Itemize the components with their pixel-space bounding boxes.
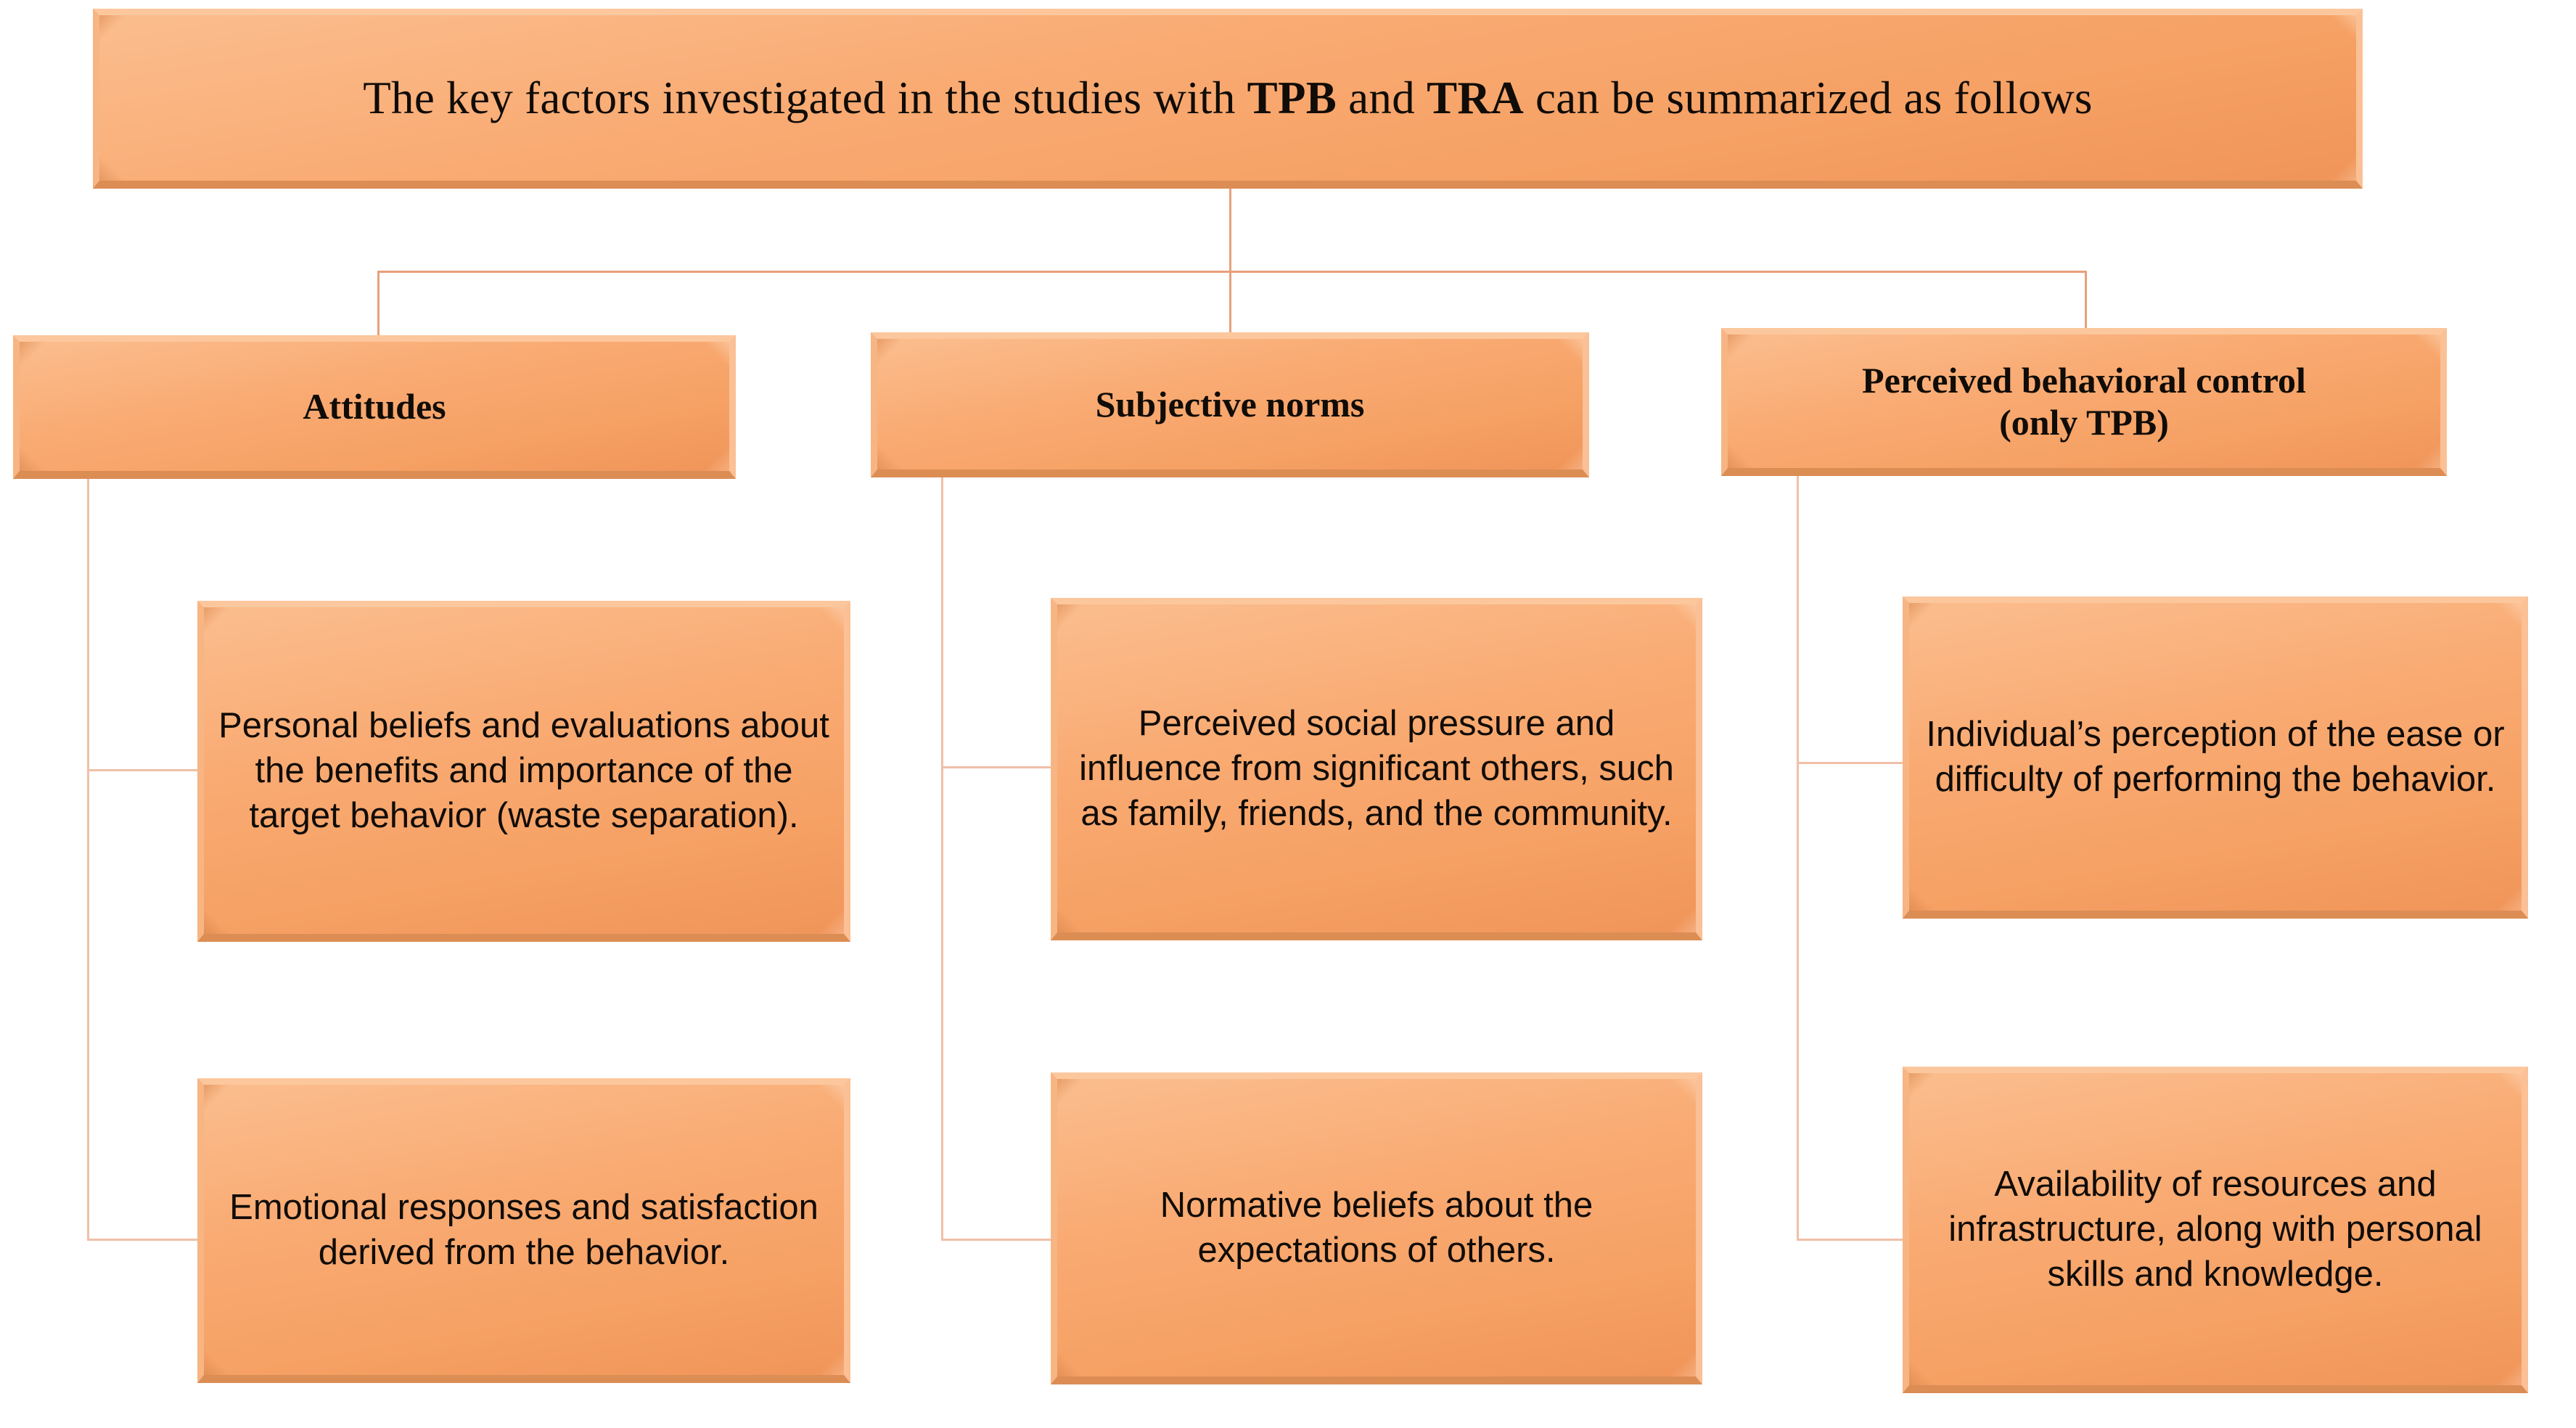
connector-perceived-behavioral-control-to-detail-2 [1797,1239,1904,1241]
header-box: The key factors investigated in the stud… [93,9,2363,189]
category-title-line-2: (only TPB) [1999,402,2169,443]
header-text-before: The key factors investigated in the stud… [363,73,1247,123]
connector-header-bus [377,271,2087,273]
category-box-perceived-behavioral-control: Perceived behavioral control(only TPB) [1721,328,2447,476]
category-box-subjective-norms: Subjective norms [871,332,1589,477]
connector-perceived-behavioral-control-to-detail-1 [1797,762,1904,764]
detail-text: Individual’s perception of the ease or d… [1909,712,2522,802]
header-text-mid: and [1337,73,1427,123]
detail-text: Personal beliefs and evaluations about t… [204,703,844,839]
category-title-subjective-norms: Subjective norms [877,383,1583,425]
category-box-attitudes: Attitudes [13,335,736,479]
detail-box-subjective-norms-2: Normative beliefs about the expectations… [1051,1072,1702,1384]
detail-box-attitudes-2: Emotional responses and satisfaction der… [197,1078,850,1383]
header-text: The key factors investigated in the stud… [99,71,2356,125]
detail-box-attitudes-1: Personal beliefs and evaluations about t… [197,601,850,942]
category-title-perceived-behavioral-control: Perceived behavioral control(only TPB) [1728,359,2440,443]
category-title-line-1: Perceived behavioral control [1862,360,2306,401]
connector-attitudes-to-detail-1 [87,769,200,771]
connector-perceived-behavioral-control-spine [1797,475,1799,1241]
header-term-tra: TRA [1427,73,1524,123]
detail-text: Perceived social pressure and influence … [1057,701,1696,837]
connector-header-stem [1229,189,1231,273]
connector-attitudes-spine [87,477,89,1241]
detail-text: Normative beliefs about the expectations… [1057,1183,1696,1273]
category-title-attitudes: Attitudes [20,385,729,427]
connector-attitudes-to-detail-2 [87,1239,200,1241]
detail-box-subjective-norms-1: Perceived social pressure and influence … [1051,598,1702,940]
header-term-tpb: TPB [1247,73,1337,123]
detail-box-perceived-behavioral-control-2: Availability of resources and infrastruc… [1903,1067,2528,1393]
diagram-canvas: The key factors investigated in the stud… [0,0,2576,1428]
connector-subjective-norms-to-detail-1 [941,766,1052,768]
connector-header-to-subjective-norms [1229,271,1231,335]
detail-box-perceived-behavioral-control-1: Individual’s perception of the ease or d… [1903,596,2528,919]
connector-header-to-attitudes [377,271,380,337]
connector-header-to-perceived-behavioral-control [2085,271,2087,330]
connector-subjective-norms-to-detail-2 [941,1239,1052,1241]
detail-text: Emotional responses and satisfaction der… [204,1185,844,1275]
detail-text: Availability of resources and infrastruc… [1909,1162,2522,1297]
header-text-after: can be summarized as follows [1524,73,2093,123]
connector-subjective-norms-spine [941,476,943,1241]
